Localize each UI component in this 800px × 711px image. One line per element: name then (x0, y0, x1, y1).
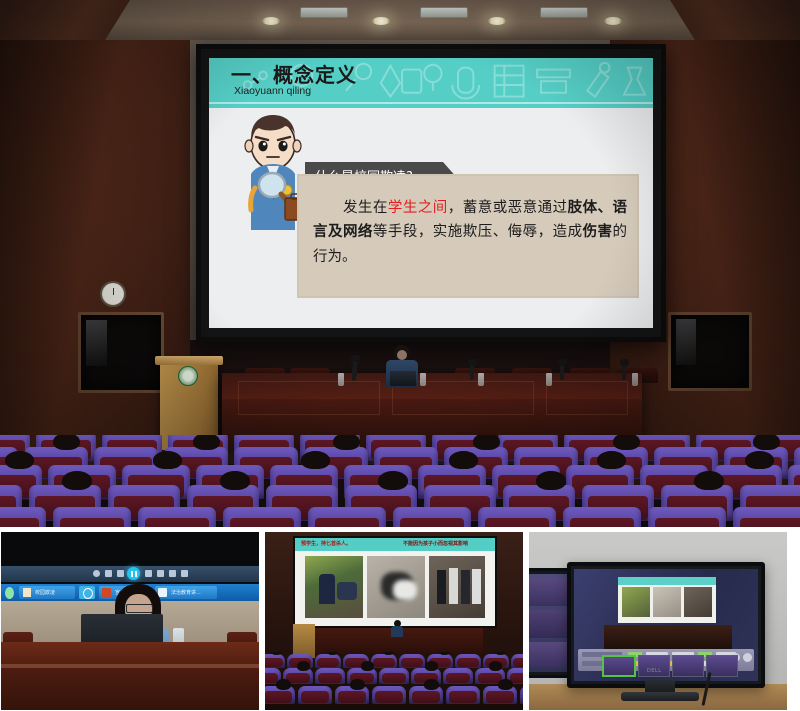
figure (449, 568, 458, 604)
student-head (745, 451, 774, 469)
camera-feed (528, 578, 569, 606)
dell-logo: DELL (647, 668, 662, 674)
ceiling-downlight (372, 17, 390, 25)
microphone (353, 360, 357, 376)
auditorium-seat (455, 654, 481, 668)
camera-feed (528, 610, 569, 638)
window-glare (86, 320, 107, 367)
student-head (449, 451, 478, 469)
seg-0: 发生在 (313, 200, 388, 216)
seat-cushion (338, 691, 366, 703)
auditorium-seat (520, 686, 523, 704)
figure (461, 570, 470, 604)
seat-cushion (382, 673, 407, 684)
auditorium-seat (0, 507, 46, 527)
student-head (378, 471, 408, 490)
auditorium-seat (379, 668, 409, 684)
auditorium-seat (478, 507, 556, 527)
student-head (498, 679, 513, 690)
window-glare (676, 319, 696, 364)
seat-cushion (513, 658, 523, 667)
camera-thumbnail-selected[interactable] (602, 655, 636, 677)
seat-cushion (412, 691, 440, 703)
water-bottle (420, 373, 426, 386)
control-window-right (668, 312, 752, 391)
microphone (622, 364, 626, 380)
ceiling-light-bar (540, 7, 588, 18)
pause-button[interactable] (127, 567, 140, 580)
presenter-body (391, 626, 403, 637)
auditorium-seat (315, 668, 345, 684)
auditorium-seat (399, 654, 425, 668)
student-head (220, 471, 250, 490)
student-head (597, 451, 626, 469)
preview-slide-header (618, 577, 716, 585)
seat-cushion (446, 673, 471, 684)
seat-cushion (230, 518, 294, 527)
definition-text: 发生在学生之间，蓄意或恶意通过肢体、语言及网络等手段，实施欺压、侮辱，造成伤害的… (313, 196, 627, 269)
desk-edge-highlight (1, 664, 259, 668)
auditorium-seat (446, 686, 480, 704)
ceiling-light-bar (300, 7, 348, 18)
student-head (297, 661, 310, 671)
dell-monitor (567, 562, 765, 688)
ceiling-downlight (488, 17, 506, 25)
seg-5-bold: 伤害 (583, 224, 613, 240)
start-icon[interactable] (5, 587, 14, 599)
figure (319, 574, 335, 604)
student-head (425, 661, 438, 671)
wall-clock (100, 281, 126, 307)
seat-cushion (0, 518, 39, 527)
ceiling-downlight (604, 17, 622, 25)
case-photo-3 (429, 556, 485, 618)
seat-cushion (485, 518, 549, 527)
definition-panel: 发生在学生之间，蓄意或恶意通过肢体、语言及网络等手段，实施欺压、侮辱，造成伤害的… (297, 174, 639, 298)
taskbar-item-kingsoft[interactable] (79, 586, 95, 599)
auditorium-seat (315, 654, 341, 668)
export-icon[interactable] (169, 570, 176, 577)
water-bottle (478, 373, 484, 386)
settings-icon[interactable] (743, 653, 752, 662)
preview-photo-3 (684, 587, 712, 617)
panel-control-room-monitors: DELL (528, 531, 788, 711)
seat-cushion (317, 658, 338, 667)
student-head (193, 435, 220, 450)
header-rule (209, 102, 653, 104)
slide-header-text-right: 不能因为孩子小而忽视其影响 (403, 540, 468, 547)
blurred-figure (393, 580, 417, 600)
student-head (536, 471, 566, 490)
water-bottle (632, 373, 638, 386)
slide-header-text-left: 预学生，持匕首杀人。 (301, 540, 351, 547)
student-head (694, 471, 724, 490)
audience-seating (265, 652, 523, 710)
student-head (613, 435, 640, 450)
seg-4: 等手段，实施欺压、侮辱，造成 (373, 224, 583, 240)
camera-thumbnail-strip[interactable] (602, 655, 738, 677)
pointer-icon[interactable] (181, 570, 188, 577)
media-control-bar[interactable] (1, 566, 259, 582)
preview-room-strip (604, 625, 732, 649)
student-head (5, 451, 34, 469)
camera-feed (528, 642, 569, 668)
student-head (350, 679, 365, 690)
school-emblem-icon (178, 366, 198, 386)
auditorium-seat (393, 507, 471, 527)
seat-cushion (373, 658, 394, 667)
student-head (361, 661, 374, 671)
seat-cushion (486, 691, 514, 703)
microphone (470, 364, 474, 380)
secondary-monitor-screen (528, 574, 569, 672)
auditorium-seat (733, 507, 800, 527)
dell-monitor-screen (574, 569, 758, 681)
auditorium-seat (298, 686, 332, 704)
wooden-desk (1, 642, 259, 710)
student-head (333, 435, 360, 450)
preview-photo-2 (653, 587, 681, 617)
slide-header-band: 一、概念定义 Xiaoyuann qiling (209, 58, 653, 108)
preview-photo-1 (622, 587, 650, 617)
kingsoft-icon (83, 588, 93, 599)
audience-seating (0, 435, 800, 527)
student-head (301, 451, 330, 469)
seat-cushion (265, 691, 292, 703)
slide-preview (618, 577, 716, 623)
water-bottle (338, 373, 344, 386)
monitor-stand-base (621, 692, 699, 701)
settings-icon[interactable] (117, 570, 124, 577)
auditorium-seat (265, 654, 285, 668)
student-head (489, 661, 502, 671)
cut-icon[interactable] (157, 570, 164, 577)
ceiling-downlight (262, 17, 280, 25)
seat-cushion (740, 518, 800, 527)
figure (472, 569, 481, 604)
auditorium-seat (138, 507, 216, 527)
student-head (153, 451, 182, 469)
student-head (53, 435, 80, 450)
case-photo-2-blurred (367, 556, 425, 618)
taskbar-label-0: 校园欺凌 (35, 589, 55, 596)
stop-icon[interactable] (105, 570, 112, 577)
auditorium-seat (53, 507, 131, 527)
bottom-panel-row: 校园欺凌 宣传 法治教育讲... (0, 531, 800, 711)
student-head (62, 471, 92, 490)
presenter-face (397, 350, 407, 360)
seat-cushion (60, 518, 124, 527)
seat-cushion (655, 518, 719, 527)
seat-cushion (265, 658, 283, 667)
water-bottle (546, 373, 552, 386)
seat-cushion (301, 691, 329, 703)
figure (437, 570, 446, 604)
microphone (560, 364, 564, 380)
camera-thumbnail[interactable] (672, 655, 704, 677)
auditorium-seat (563, 507, 641, 527)
auditorium-seat (648, 507, 726, 527)
projection-screen: 一、概念定义 Xiaoyuann qiling (196, 44, 666, 342)
seat-cushion (449, 691, 477, 703)
next-icon[interactable] (145, 570, 152, 577)
auditorium-lecture-photo: 一、概念定义 Xiaoyuann qiling (0, 0, 800, 527)
seat-cushion (315, 518, 379, 527)
panel-slide-case-photos: 预学生，持匕首杀人。 不能因为孩子小而忽视其影响 (264, 531, 524, 711)
document-icon (23, 588, 31, 597)
seat-cushion (570, 518, 634, 527)
seat-cushion (400, 518, 464, 527)
presenter (391, 620, 403, 636)
projection-screen: 预学生，持匕首杀人。 不能因为孩子小而忽视其影响 (293, 536, 497, 628)
control-window-left (78, 312, 164, 393)
case-photo-1 (305, 556, 363, 618)
photo-collage: 一、概念定义 Xiaoyuann qiling (0, 0, 800, 711)
figure (337, 582, 357, 600)
auditorium-seat (443, 668, 473, 684)
presenter-laptop (390, 371, 416, 386)
taskbar-label-3: 法治教育讲... (171, 589, 201, 596)
seat-cushion (375, 691, 403, 703)
eyeglasses-icon (126, 604, 153, 613)
seat-cushion (145, 518, 209, 527)
record-icon[interactable] (93, 570, 100, 577)
student-head (473, 435, 500, 450)
student-head (753, 435, 780, 450)
seg-2: ，蓄意或恶意通过 (448, 200, 568, 216)
seat-cushion (457, 658, 478, 667)
table-panel-inlay (238, 381, 380, 415)
table-panel-inlay (546, 381, 628, 415)
taskbar-item-document[interactable]: 校园欺凌 (19, 586, 75, 599)
student-head (424, 679, 439, 690)
panel-presenter-at-laptop: 校园欺凌 宣传 法治教育讲... (0, 531, 260, 711)
slide-header-band: 预学生，持匕首杀人。 不能因为孩子小而忽视其影响 (295, 538, 495, 551)
auditorium-seat (511, 654, 523, 668)
auditorium-seat (223, 507, 301, 527)
seat-cushion (401, 658, 422, 667)
ceiling-light-bar (420, 7, 468, 18)
slide-subtitle: Xiaoyuann qiling (234, 85, 311, 97)
seg-1-highlight: 学生之间 (388, 200, 448, 216)
auditorium-seat (372, 686, 406, 704)
auditorium-seat (371, 654, 397, 668)
slide-title: 一、概念定义 (231, 59, 357, 88)
auditorium-seat (308, 507, 386, 527)
podium-top (155, 356, 223, 365)
presentation-slide: 一、概念定义 Xiaoyuann qiling (209, 58, 653, 328)
student-head (276, 679, 291, 690)
seat-cushion (318, 673, 343, 684)
